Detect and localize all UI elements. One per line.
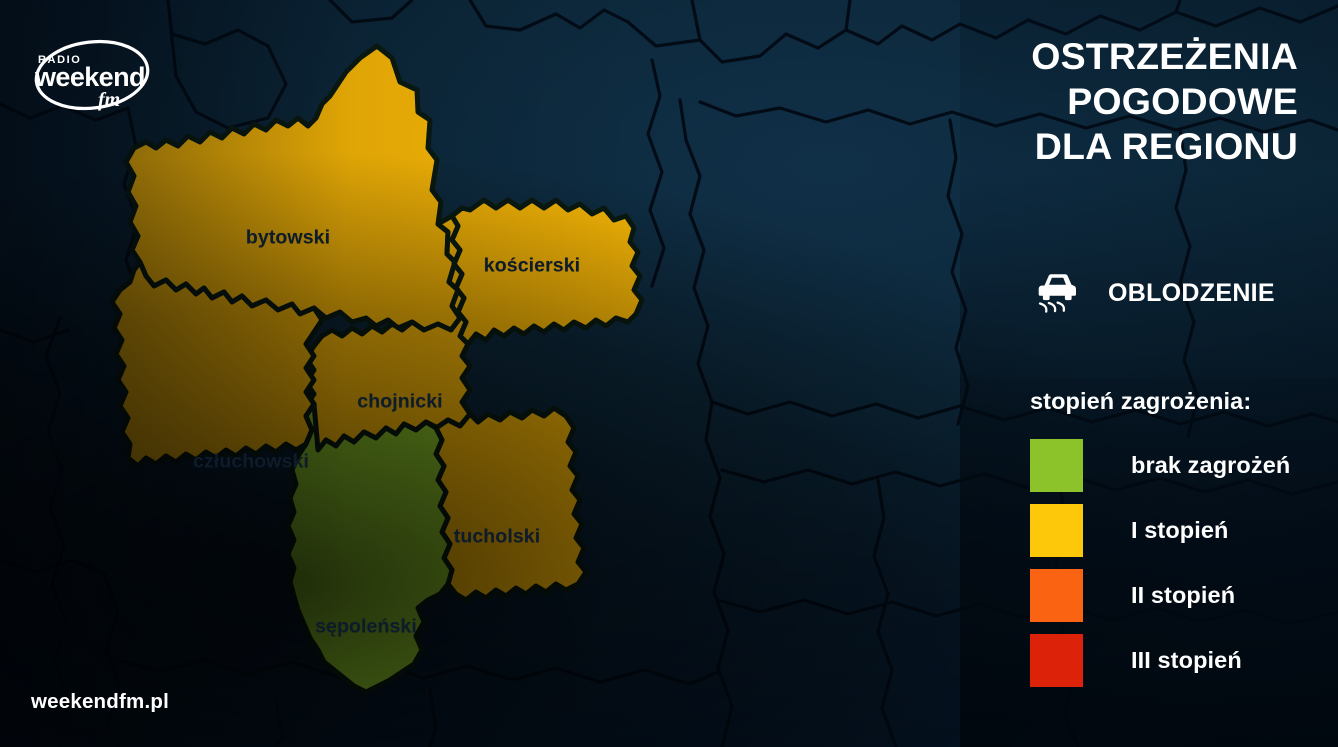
district-label-chojnicki: chojnicki bbox=[357, 391, 442, 414]
legend-item-i-stopien[interactable]: I stopień bbox=[1030, 504, 1330, 557]
legend-title: stopień zagrożenia: bbox=[1030, 388, 1330, 415]
legend-label-i-stopien: I stopień bbox=[1131, 517, 1229, 544]
district-label-bytowski: bytowski bbox=[246, 227, 330, 250]
legend: stopień zagrożenia: brak zagrożeń I stop… bbox=[1030, 388, 1330, 699]
page-title: OSTRZEŻENIA POGODOWE DLA REGIONU bbox=[968, 34, 1298, 168]
title-line-1: OSTRZEŻENIA bbox=[968, 34, 1298, 79]
svg-text:fm: fm bbox=[98, 89, 120, 111]
warning-type-label: OBLODZENIE bbox=[1108, 279, 1275, 308]
title-line-2: POGODOWE bbox=[968, 79, 1298, 124]
warning-type-row: OBLODZENIE bbox=[1032, 268, 1275, 318]
weather-warning-infographic: bytowski kościerski chojnicki człuchowsk… bbox=[0, 0, 1338, 747]
site-watermark[interactable]: weekendfm.pl bbox=[31, 690, 169, 714]
legend-swatch-orange bbox=[1030, 569, 1083, 622]
legend-label-brak-zagrozen: brak zagrożeń bbox=[1131, 452, 1290, 479]
legend-label-iii-stopien: III stopień bbox=[1131, 647, 1242, 674]
weekend-fm-oval-logo: RADIO weekend fm bbox=[18, 30, 166, 122]
legend-item-brak-zagrozen[interactable]: brak zagrożeń bbox=[1030, 439, 1330, 492]
legend-swatch-red bbox=[1030, 634, 1083, 687]
radio-weekend-fm-logo[interactable]: RADIO weekend fm bbox=[18, 30, 166, 122]
skidding-car-icon bbox=[1032, 268, 1082, 318]
district-label-koscierski: kościerski bbox=[484, 255, 580, 278]
district-label-czluchowski: człuchowski bbox=[193, 451, 309, 474]
legend-swatch-green bbox=[1030, 439, 1083, 492]
title-line-3: DLA REGIONU bbox=[968, 124, 1298, 169]
legend-swatch-yellow bbox=[1030, 504, 1083, 557]
svg-text:weekend: weekend bbox=[34, 62, 145, 92]
legend-item-iii-stopien[interactable]: III stopień bbox=[1030, 634, 1330, 687]
district-label-sepolenski: sępoleński bbox=[315, 616, 417, 639]
legend-label-ii-stopien: II stopień bbox=[1131, 582, 1235, 609]
district-label-tucholski: tucholski bbox=[454, 526, 541, 549]
legend-item-ii-stopien[interactable]: II stopień bbox=[1030, 569, 1330, 622]
